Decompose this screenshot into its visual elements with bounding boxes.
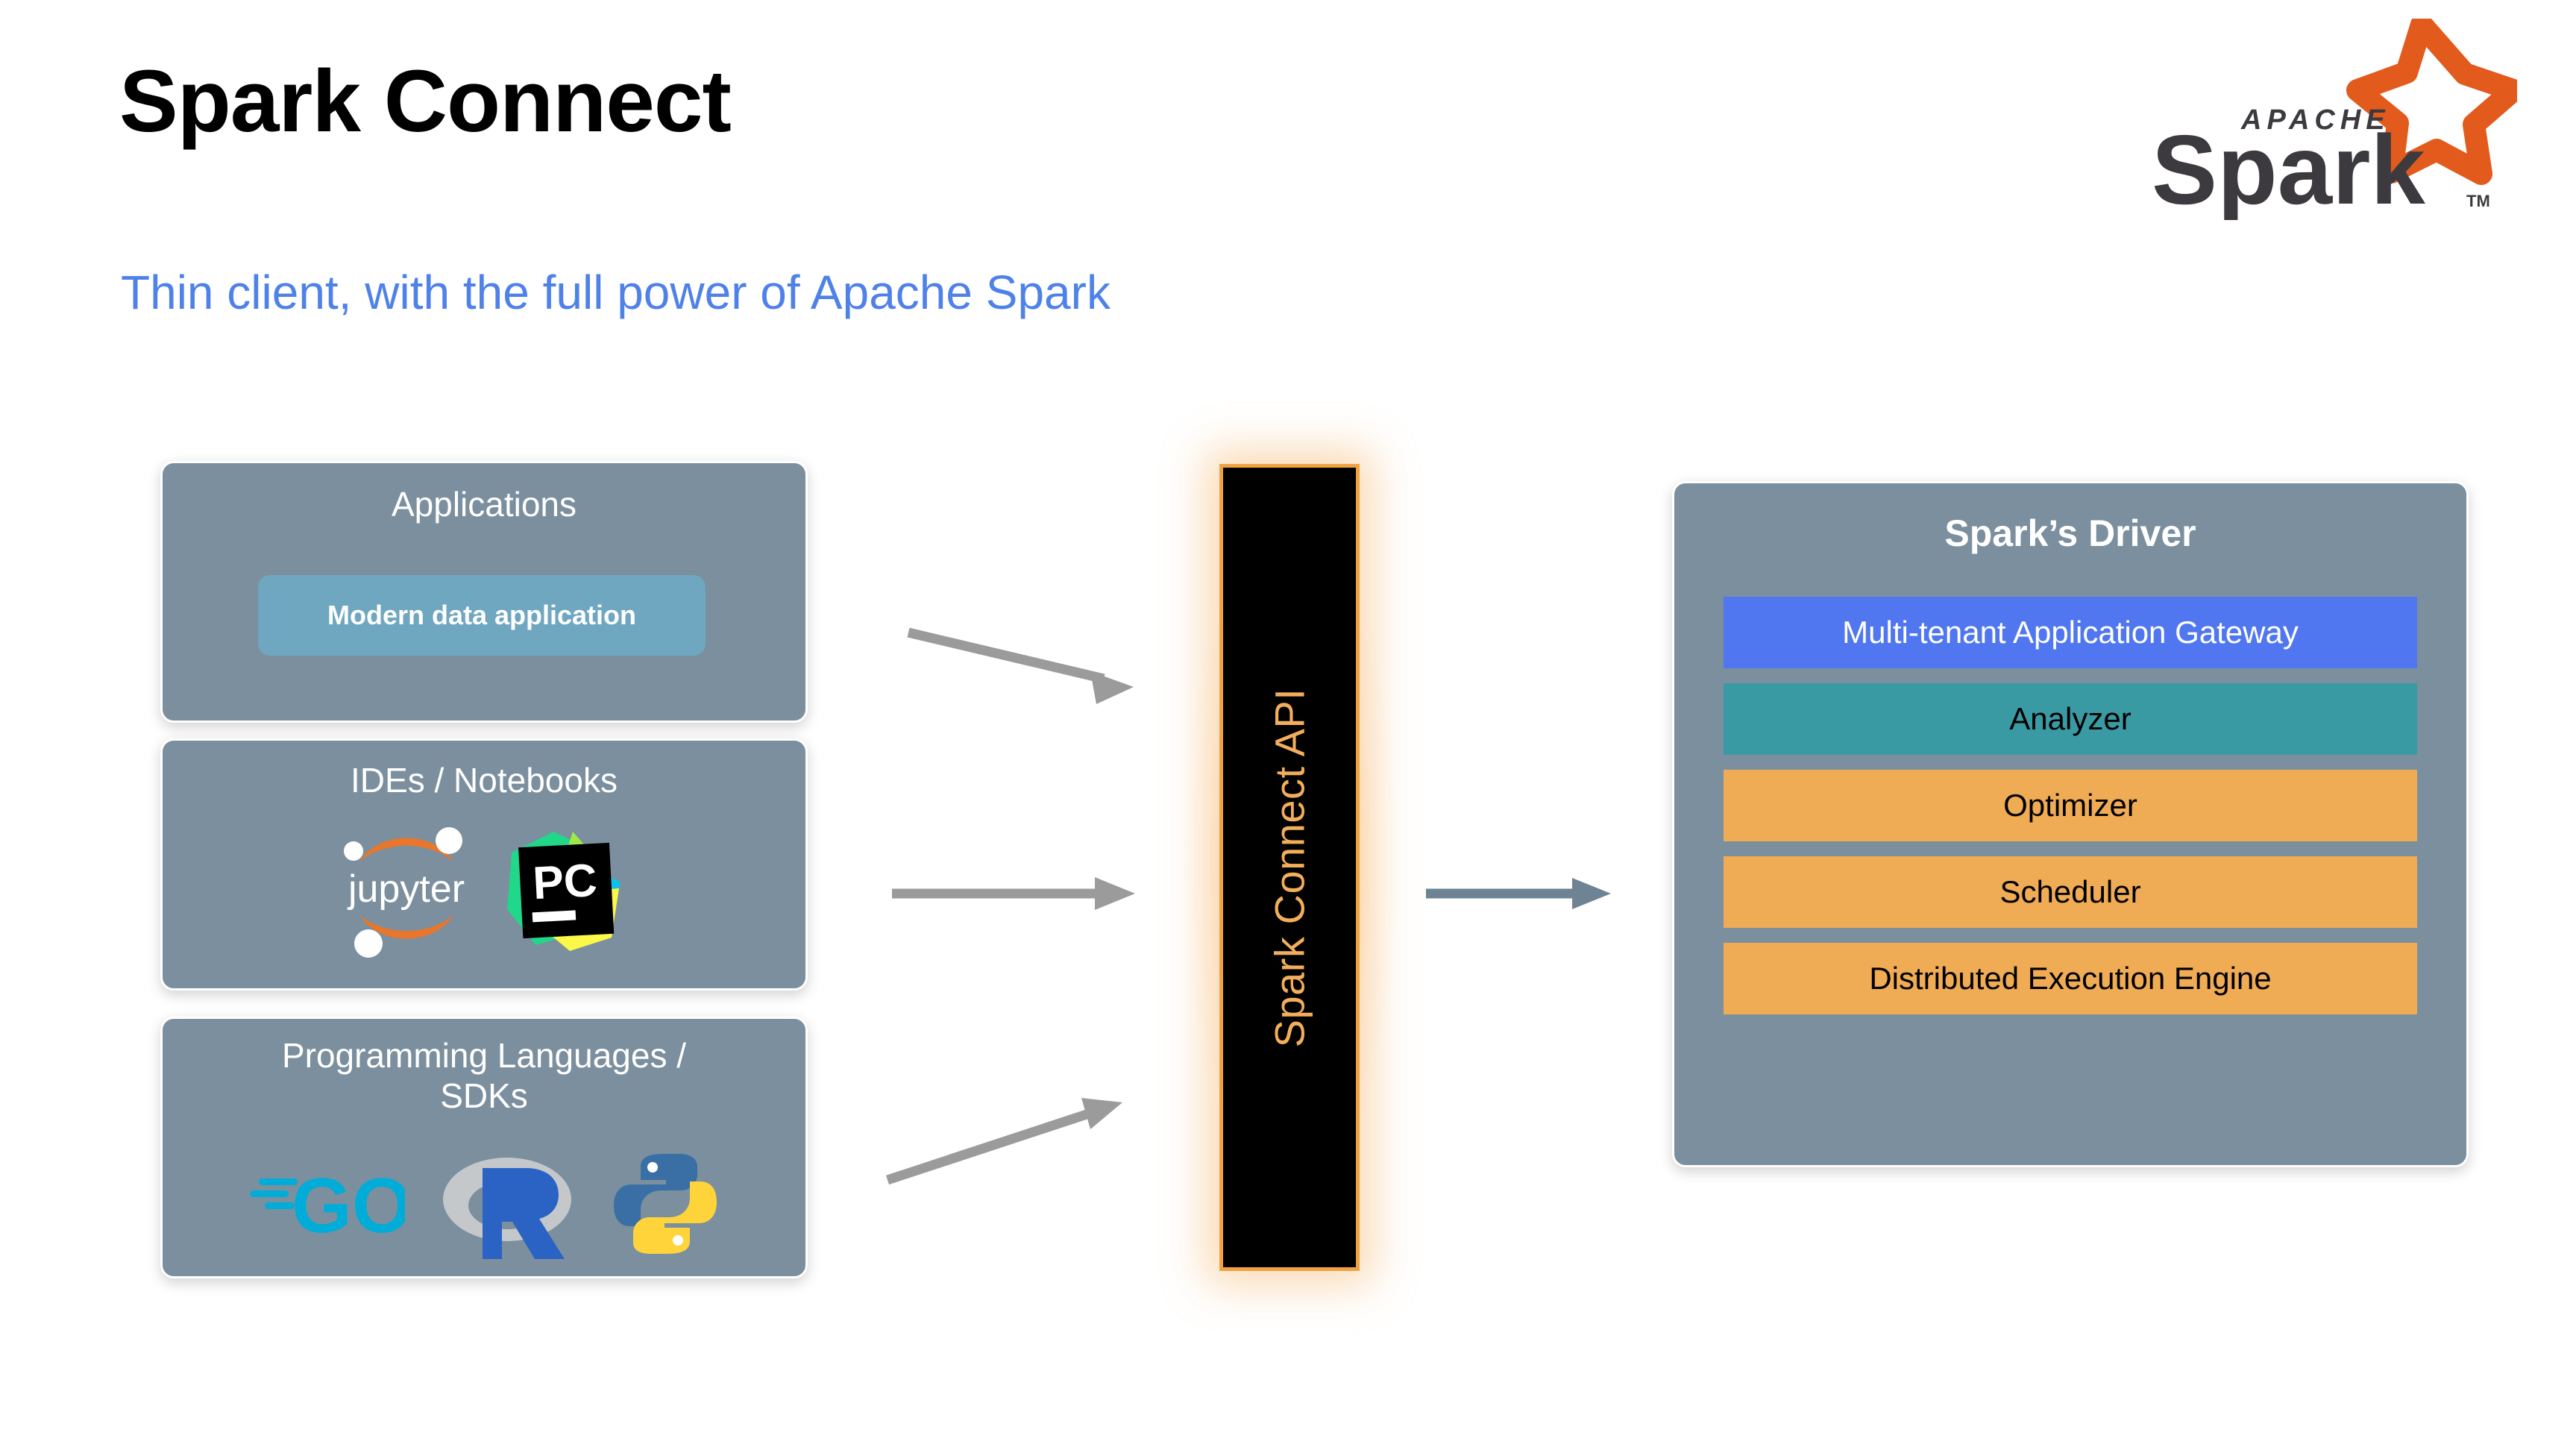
arrow-api-to-driver <box>1426 878 1611 909</box>
card-applications[interactable]: Applications Modern data application <box>160 461 808 723</box>
svg-text:jupyter: jupyter <box>346 867 464 911</box>
arrow-languages-to-api <box>888 1098 1122 1180</box>
driver-row-scheduler[interactable]: Scheduler <box>1724 856 2417 928</box>
svg-text:TM: TM <box>2466 192 2490 210</box>
card-languages-title-line1: Programming Languages / <box>282 1036 686 1075</box>
spark-connect-api-bar[interactable]: Spark Connect API <box>1219 464 1360 1271</box>
svg-text:GO: GO <box>292 1163 405 1249</box>
driver-row-optimizer[interactable]: Optimizer <box>1724 770 2417 841</box>
arrow-ides-to-api <box>892 877 1135 910</box>
card-applications-title: Applications <box>163 484 805 524</box>
driver-row-list: Multi-tenant Application Gateway Analyze… <box>1724 597 2417 1014</box>
slide-root: Spark Connect Thin client, with the full… <box>0 0 2576 1447</box>
language-logo-row: GO <box>163 1144 805 1267</box>
svg-text:PC: PC <box>531 854 598 908</box>
driver-row-gateway[interactable]: Multi-tenant Application Gateway <box>1724 597 2417 668</box>
driver-row-gateway-label: Multi-tenant Application Gateway <box>1842 617 2299 648</box>
apache-spark-logo: APACHE Spark TM <box>2129 19 2517 220</box>
pycharm-logo: PC <box>501 820 632 961</box>
page-title: Spark Connect <box>119 56 731 148</box>
modern-data-application-pill[interactable]: Modern data application <box>258 575 706 656</box>
spark-driver-title: Spark’s Driver <box>1674 512 2466 556</box>
driver-row-optimizer-label: Optimizer <box>2003 790 2137 821</box>
svg-text:Spark: Spark <box>2152 115 2425 220</box>
ide-logo-row: jupyter PC <box>163 815 805 965</box>
card-languages-title-line2: SDKs <box>440 1076 528 1115</box>
go-logo: GO <box>247 1159 405 1252</box>
card-programming-languages-sdks[interactable]: Programming Languages / SDKs GO <box>160 1017 808 1278</box>
driver-row-execution-engine[interactable]: Distributed Execution Engine <box>1724 943 2417 1014</box>
driver-row-execution-engine-label: Distributed Execution Engine <box>1869 963 2271 994</box>
spark-driver-panel[interactable]: Spark’s Driver Multi-tenant Application … <box>1672 481 2469 1167</box>
driver-row-scheduler-label: Scheduler <box>1999 876 2140 908</box>
jupyter-logo: jupyter <box>337 815 476 965</box>
driver-row-analyzer[interactable]: Analyzer <box>1724 683 2417 755</box>
arrow-applications-to-api <box>908 633 1134 704</box>
card-ides-notebooks[interactable]: IDEs / Notebooks jupyter <box>160 738 808 991</box>
python-logo <box>609 1148 721 1264</box>
card-ides-notebooks-title: IDEs / Notebooks <box>163 760 805 800</box>
card-programming-languages-title: Programming Languages / SDKs <box>163 1035 805 1117</box>
spark-connect-api-label: Spark Connect API <box>1266 688 1314 1047</box>
r-logo <box>436 1144 578 1267</box>
page-subtitle: Thin client, with the full power of Apac… <box>121 265 1110 320</box>
driver-row-analyzer-label: Analyzer <box>2009 703 2131 735</box>
